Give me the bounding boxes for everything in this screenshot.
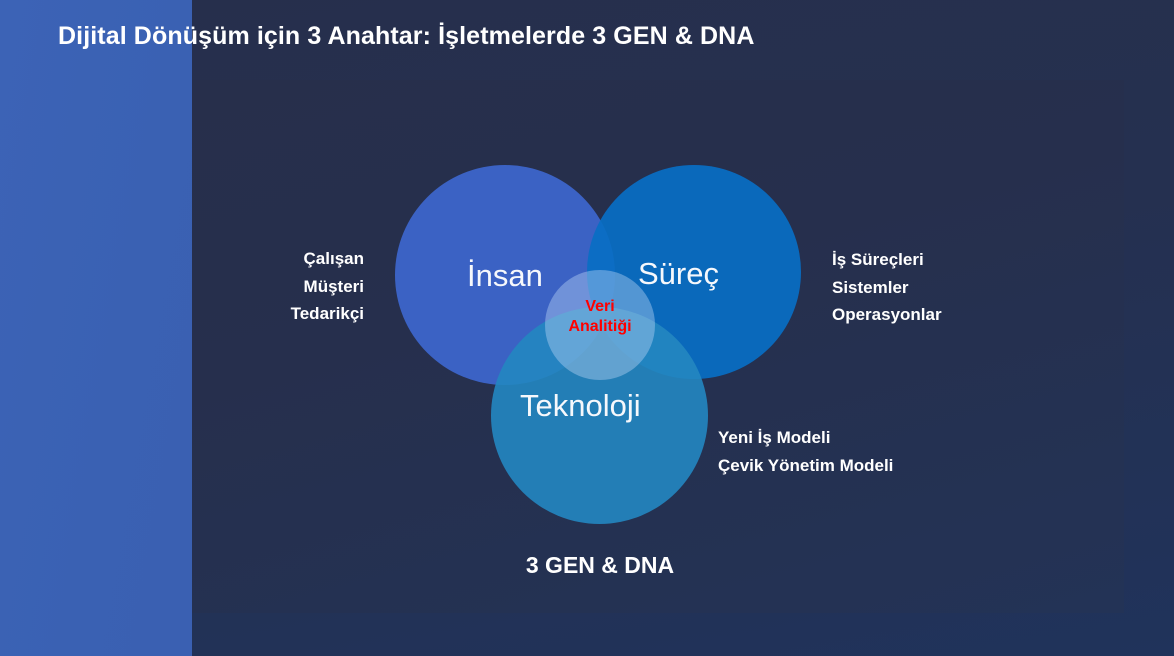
annotation-bottom-item-1: Yeni İş Modeli	[718, 424, 893, 452]
annotation-left-item-2: Müşteri	[291, 273, 364, 301]
annotation-right-item-3: Operasyonlar	[832, 301, 942, 329]
annotation-bottom-item-2: Çevik Yönetim Modeli	[718, 452, 893, 480]
venn-center-label-line2: Analitiği	[545, 317, 655, 337]
venn-center-label: Veri Analitiği	[545, 297, 655, 338]
slide-caption: 3 GEN & DNA	[192, 552, 1008, 579]
annotation-left-item-3: Tedarikçi	[291, 300, 364, 328]
annotation-bottom: Yeni İş Modeli Çevik Yönetim Modeli	[718, 424, 893, 479]
annotation-right-item-2: Sistemler	[832, 274, 942, 302]
annotation-right: İş Süreçleri Sistemler Operasyonlar	[832, 246, 942, 329]
venn-label-insan: İnsan	[467, 258, 543, 294]
venn-center-label-line1: Veri	[545, 297, 655, 317]
slide-title: Dijital Dönüşüm için 3 Anahtar: İşletmel…	[58, 22, 754, 51]
annotation-left: Çalışan Müşteri Tedarikçi	[291, 245, 364, 328]
annotation-right-item-1: İş Süreçleri	[832, 246, 942, 274]
venn-label-teknoloji: Teknoloji	[520, 388, 641, 424]
venn-label-surec: Süreç	[638, 256, 719, 292]
annotation-left-item-1: Çalışan	[291, 245, 364, 273]
slide-canvas: Dijital Dönüşüm için 3 Anahtar: İşletmel…	[0, 0, 1174, 656]
